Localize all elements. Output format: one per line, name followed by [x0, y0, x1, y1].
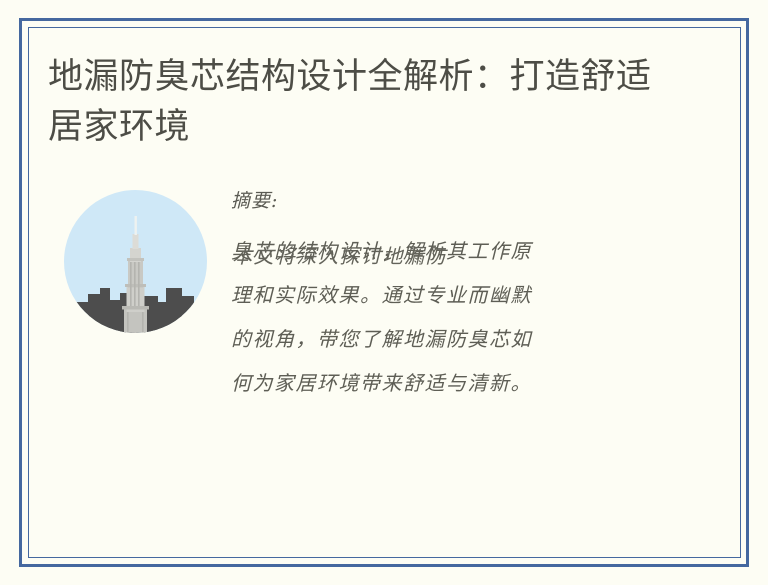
abstract-label: 摘要: [231, 186, 698, 213]
card-content: 地漏防臭芯结构设计全解析：打造舒适居家环境 [48, 52, 698, 532]
article-body-row: 摘要: 臭芯的结构设计，解析其工作原 本文将深入探讨地漏防 理和实际效果。通过专… [48, 186, 698, 405]
abstract-line-4: 何为家居环境带来舒适与清新。 [231, 361, 651, 405]
abstract-line-overlapped: 臭芯的结构设计，解析其工作原 本文将深入探讨地漏防 [231, 229, 651, 273]
abstract-line-2: 理和实际效果。通过专业而幽默 [231, 273, 651, 317]
abstract-text: 臭芯的结构设计，解析其工作原 本文将深入探讨地漏防 理和实际效果。通过专业而幽默… [231, 229, 651, 405]
abstract-line-3: 的视角，带您了解地漏防臭芯如 [231, 317, 651, 361]
abstract-overlap-layer-lower: 本文将深入探讨地漏防 [232, 234, 652, 278]
article-card-page: 地漏防臭芯结构设计全解析：打造舒适居家环境 [0, 0, 768, 585]
abstract-block: 摘要: 臭芯的结构设计，解析其工作原 本文将深入探讨地漏防 理和实际效果。通过专… [231, 186, 698, 405]
page-title: 地漏防臭芯结构设计全解析：打造舒适居家环境 [48, 52, 658, 151]
city-skyline-icon [64, 190, 207, 333]
abstract-overlap-lower-text: 本文将深入探讨地漏防 [232, 244, 447, 268]
